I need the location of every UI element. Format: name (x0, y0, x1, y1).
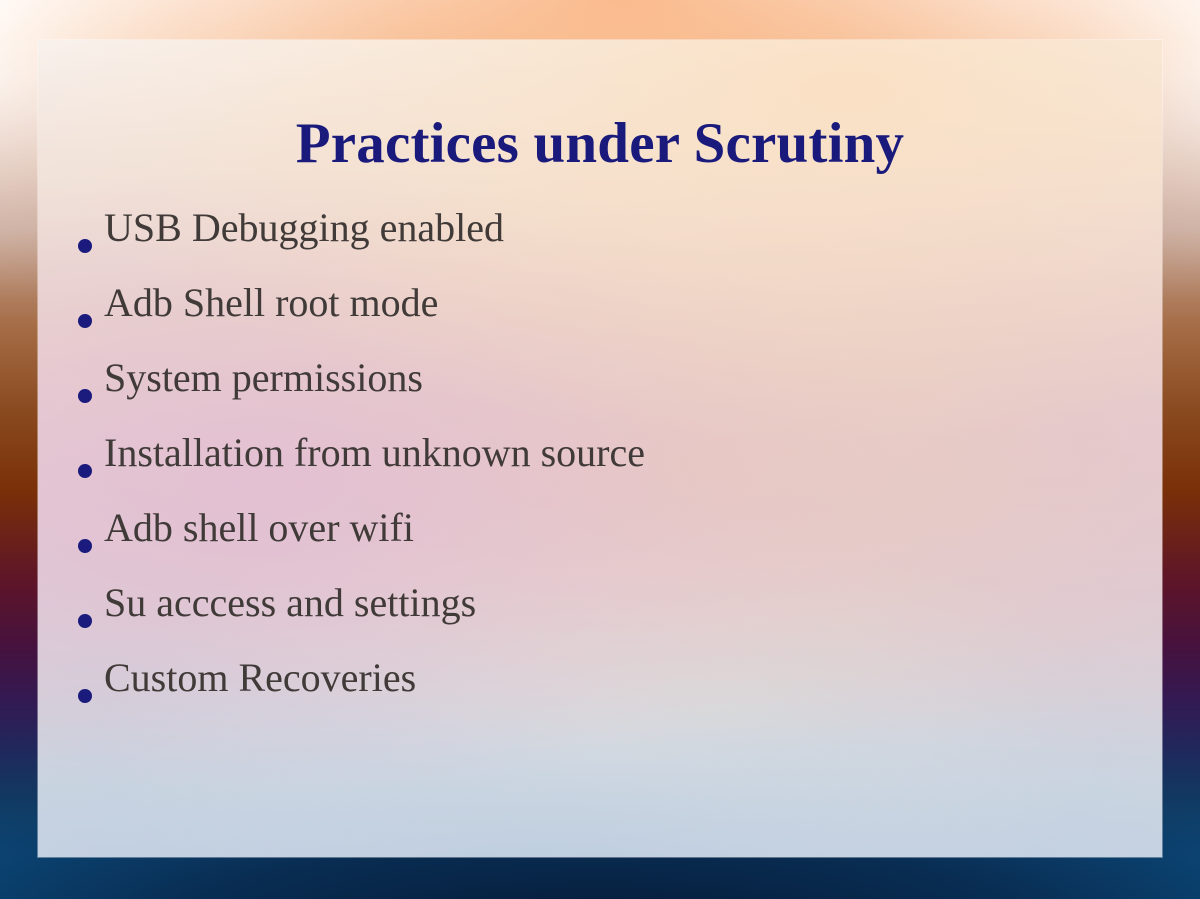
list-item-label: USB Debugging enabled (104, 208, 1122, 248)
list-item-label: Adb Shell root mode (104, 283, 1122, 323)
list-item-label: System permissions (104, 358, 1122, 398)
list-item-label: Installation from unknown source (104, 433, 1122, 473)
list-item: Adb shell over wifi (68, 508, 1122, 583)
list-item: System permissions (68, 358, 1122, 433)
list-item: Custom Recoveries (68, 658, 1122, 733)
list-item: Su acccess and settings (68, 583, 1122, 658)
list-item-label: Su acccess and settings (104, 583, 1122, 623)
list-item-label: Adb shell over wifi (104, 508, 1122, 548)
slide-content-panel: Practices under Scrutiny USB Debugging e… (38, 40, 1162, 857)
presentation-slide: Practices under Scrutiny USB Debugging e… (0, 0, 1200, 899)
list-item: Installation from unknown source (68, 433, 1122, 508)
list-item: USB Debugging enabled (68, 208, 1122, 283)
list-item-label: Custom Recoveries (104, 658, 1122, 698)
bullet-list: USB Debugging enabled Adb Shell root mod… (68, 208, 1122, 733)
list-item: Adb Shell root mode (68, 283, 1122, 358)
slide-title: Practices under Scrutiny (38, 114, 1162, 174)
slide-body: Practices under Scrutiny USB Debugging e… (38, 40, 1162, 857)
